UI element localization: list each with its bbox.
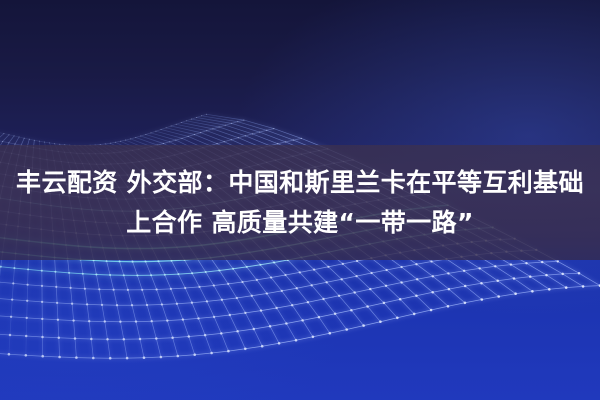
- headline-block: 丰云配资 外交部：中国和斯里兰卡在平等互利基础 上合作 高质量共建“一带一路”: [0, 145, 600, 260]
- banner-image: 丰云配资 外交部：中国和斯里兰卡在平等互利基础 上合作 高质量共建“一带一路”: [0, 0, 600, 400]
- headline-line-1: 丰云配资 外交部：中国和斯里兰卡在平等互利基础: [16, 165, 584, 201]
- headline-line-2: 上合作 高质量共建“一带一路”: [126, 205, 474, 241]
